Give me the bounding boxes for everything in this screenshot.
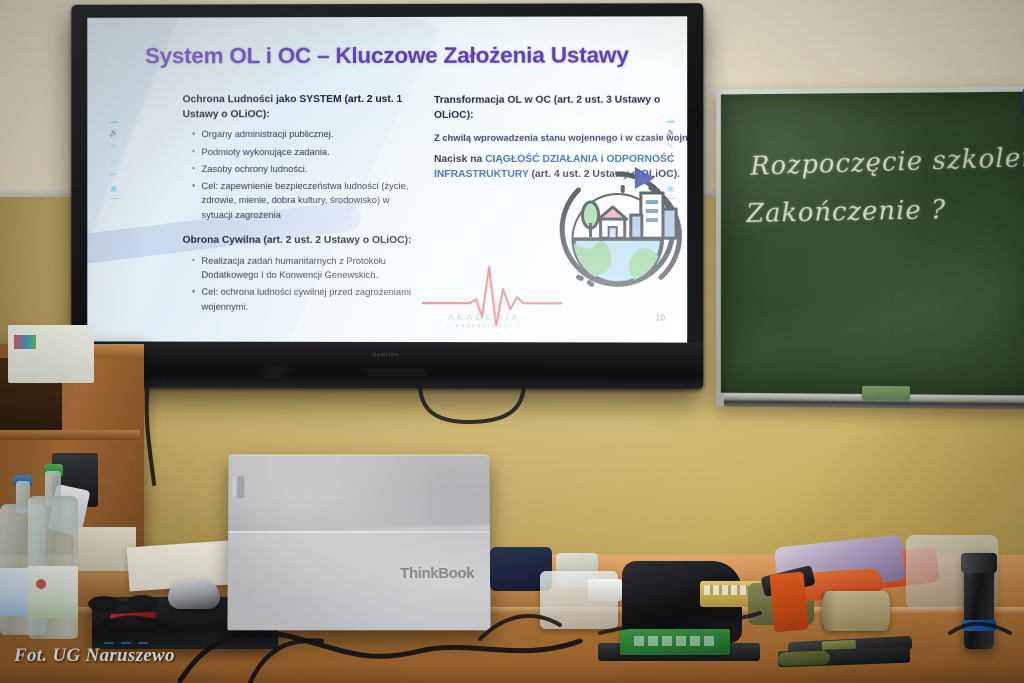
laptop-status-lights (104, 642, 148, 645)
back-icon[interactable]: ↩ (666, 169, 675, 178)
chalkboard-line-2: Zakończenie ? (746, 195, 946, 229)
slide-page-number: 10 (655, 312, 665, 322)
list-item: Podmioty wykonujące zadania. (193, 144, 420, 158)
water-bottle (28, 464, 78, 639)
display-speaker (247, 367, 301, 379)
photo-watermark: Fot. UG Naruszewo (14, 645, 175, 667)
left-heading-2: Obrona Cywilna (art. 2 ust. 2 Ustawy o O… (183, 234, 420, 249)
presentation-slide[interactable]: System OL i OC – Kluczowe Założenia Usta… (87, 16, 687, 342)
pen-icon[interactable]: ✎ (109, 142, 118, 151)
display-bezel: System OL i OC – Kluczowe Założenia Usta… (87, 16, 687, 342)
akademia-logo: AKADEMIA — PRZYSZŁOŚCI — (446, 312, 523, 328)
left-bullet-list: Organy administracji publicznej. Podmiot… (193, 127, 420, 222)
toolbar-divider-icon (667, 121, 675, 123)
volume-icon[interactable]: 🔊 (666, 127, 675, 136)
status-light-icon (138, 642, 148, 645)
booklet-text-lines (634, 636, 716, 646)
home-icon[interactable]: ⌂ (666, 155, 675, 164)
box-stripe (14, 335, 36, 349)
pen-icon[interactable]: ✎ (666, 141, 675, 150)
bottle-label (28, 566, 78, 619)
flashlight (964, 553, 994, 649)
green-booklet (620, 629, 730, 655)
packing-tape-roll (822, 591, 890, 631)
screenshot-icon[interactable]: ▣ (666, 184, 675, 193)
status-light-icon (121, 642, 131, 645)
list-item: Zasoby ochrony ludności. (193, 162, 420, 176)
computer-mouse[interactable] (168, 579, 220, 609)
slide-left-column: Ochrona Ludności jako SYSTEM (art. 2 ust… (183, 93, 420, 317)
slide-title: System OL i OC – Kluczowe Założenia Usta… (87, 42, 687, 69)
machete-handle (778, 650, 830, 666)
photo-scene: Rozpoczęcie szkolenia Zakończenie ? Syst… (0, 0, 1024, 683)
right-heading: Transformacja OL w OC (art. 2 ust. 3 Ust… (434, 93, 687, 124)
colored-box (8, 325, 94, 383)
white-device (588, 579, 622, 601)
logo-line-1: AKADEMIA (446, 312, 523, 322)
chalkboard-surface: Rozpoczęcie szkolenia Zakończenie ? (721, 92, 1024, 396)
flashlight-blue-ring (962, 620, 996, 631)
board-eraser (862, 386, 910, 399)
toolbar-divider-icon (667, 198, 675, 200)
screenshot-icon[interactable]: ▣ (109, 184, 118, 193)
toolbar-divider-icon (110, 198, 118, 200)
left-heading: Ochrona Ludności jako SYSTEM (art. 2 ust… (183, 93, 420, 122)
laptop-two-tone-split (228, 531, 490, 533)
display-ir-sensor (367, 369, 427, 376)
logo-line-2: — PRZYSZŁOŚCI — (446, 323, 523, 328)
tape-core-shadow (822, 591, 836, 631)
right-line-1: Z chwilą wprowadzenia stanu wojennego i … (434, 131, 687, 145)
list-item: Cel: ochrona ludności cywilnej przed zag… (193, 285, 420, 314)
display-toolbar-left[interactable]: 🔊 ✎ ⌂ ↩ ▣ (109, 121, 118, 199)
flashlight-head (961, 553, 997, 573)
home-icon[interactable]: ⌂ (109, 156, 118, 165)
list-item: Realizacja zadań humanitarnych z Protoko… (193, 253, 420, 282)
chalkboard: Rozpoczęcie szkolenia Zakończenie ? (716, 86, 1024, 409)
orange-handled-tool (770, 572, 809, 633)
list-item: Cel: zapewnienie bezpieczeństwa ludności… (193, 179, 420, 222)
chalkboard-line-1: Rozpoczęcie szkolenia (750, 142, 1024, 182)
list-item: Organy administracji publicznej. (193, 127, 420, 141)
left-bullet-list-2: Realizacja zadań humanitarnych z Protoko… (193, 253, 420, 313)
thinkbook-logo: ThinkBook (400, 565, 474, 582)
right-line-2-prefix: Nacisk na (434, 154, 485, 165)
cabinet-shelf (0, 430, 140, 440)
display-toolbar-right[interactable]: 🔊 ✎ ⌂ ↩ ▣ (666, 121, 675, 199)
back-icon[interactable]: ↩ (109, 170, 118, 179)
toolbar-divider-icon (110, 121, 118, 123)
interactive-display[interactable]: System OL i OC – Kluczowe Założenia Usta… (71, 3, 703, 389)
display-brand-label: newline (373, 352, 399, 358)
label-mark (36, 579, 46, 589)
wall-cable (120, 380, 680, 490)
status-light-icon (104, 642, 114, 645)
volume-icon[interactable]: 🔊 (109, 128, 118, 137)
